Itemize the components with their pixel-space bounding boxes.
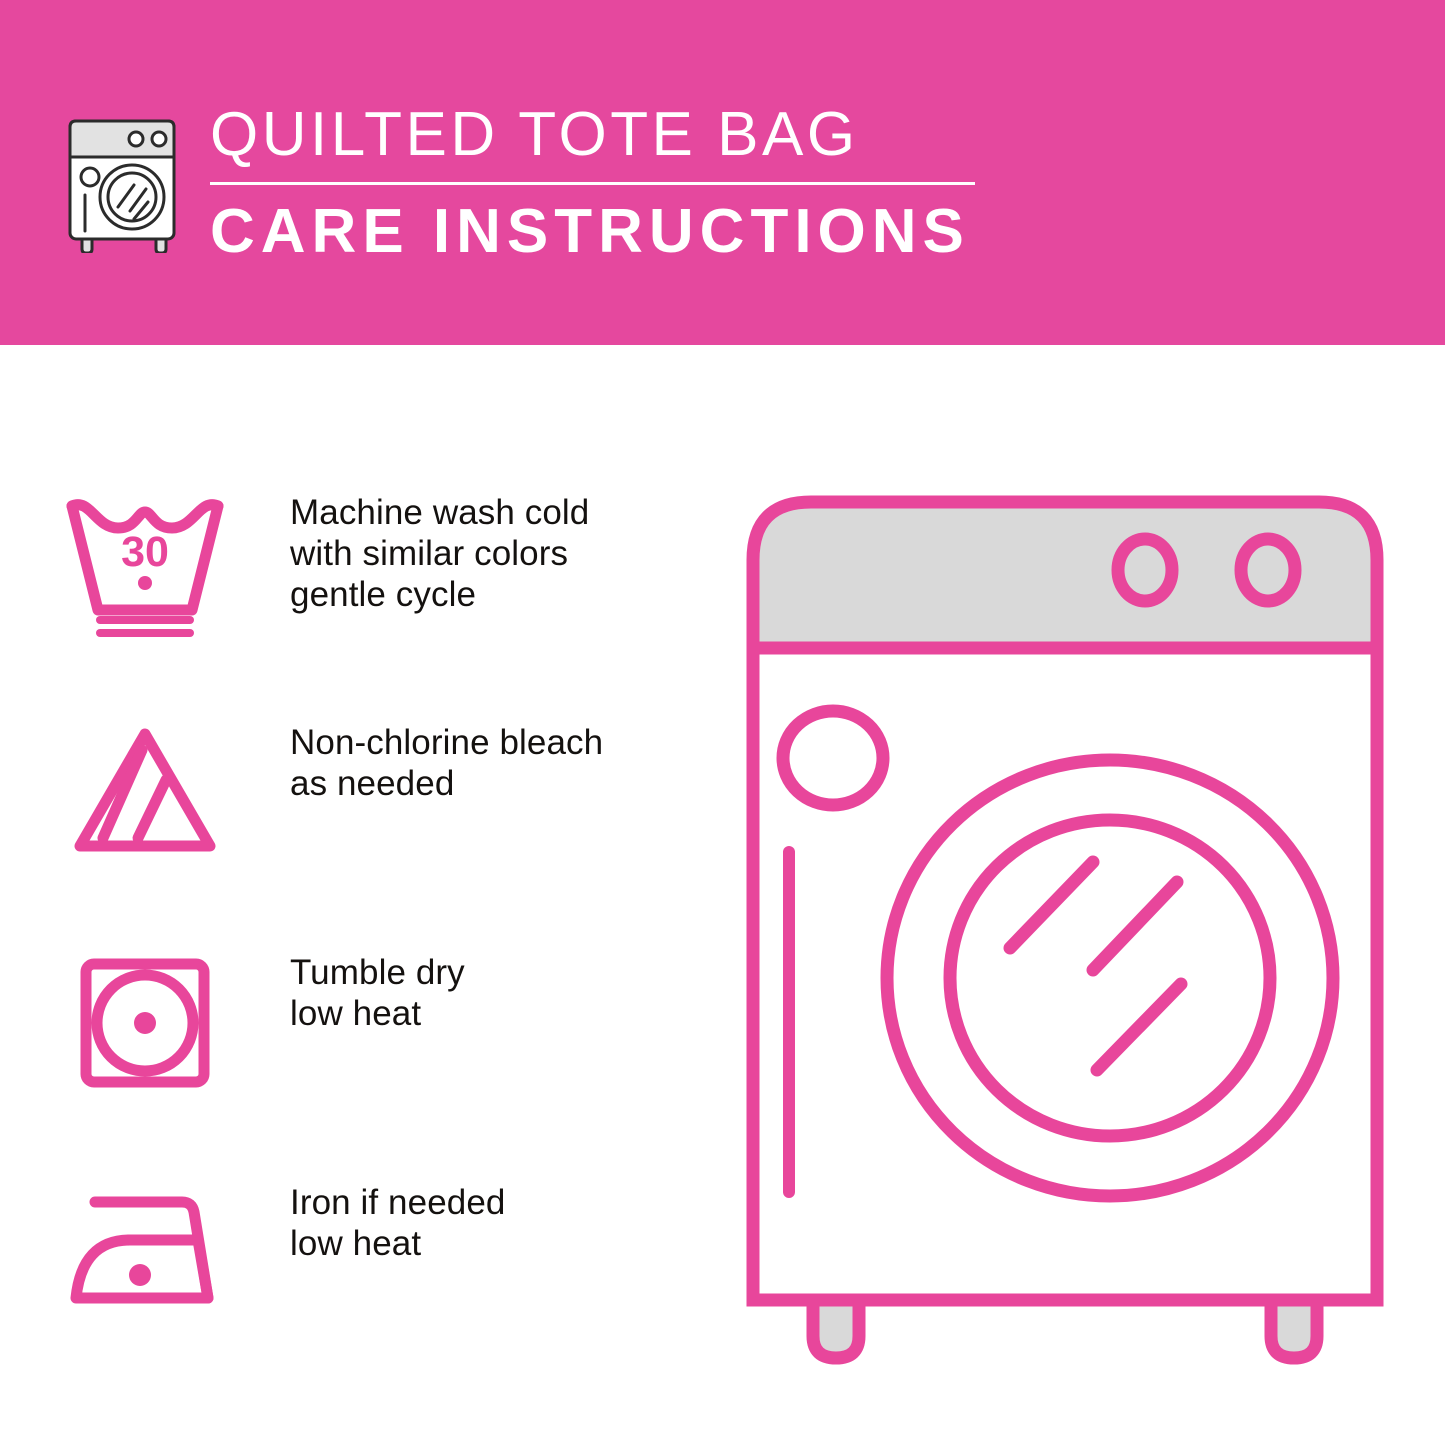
label-line: low heat [290,993,465,1034]
control-panel [753,502,1377,648]
list-item: Non-chlorine bleach as needed [0,700,700,930]
list-item: Tumble dry low heat [0,930,700,1160]
washing-machine-icon [60,103,188,253]
tumble-dry-low-symbol [0,930,290,1098]
iron-low-heat-symbol [0,1160,290,1328]
label-line: low heat [290,1223,505,1264]
machine-wash-30-gentle-symbol: 30 [0,470,290,638]
leg-left [813,1300,859,1358]
page-subtitle: CARE INSTRUCTIONS [210,199,1000,265]
door-inner-ring [950,820,1270,1136]
label-line: Non-chlorine bleach [290,722,603,763]
label-line: as needed [290,763,603,804]
detergent-port [783,711,883,805]
label-line: Machine wash cold [290,492,589,533]
non-chlorine-bleach-symbol [0,700,290,868]
list-item-label: Tumble dry low heat [290,930,465,1034]
label-line: gentle cycle [290,574,589,615]
label-line: Iron if needed [290,1182,505,1223]
wash-temperature-value: 30 [121,528,169,576]
header-text-block: QUILTED TOTE BAG CARE INSTRUCTIONS [210,100,1000,265]
list-item: 30 Machine wash cold with similar colors… [0,470,700,700]
header-banner: QUILTED TOTE BAG CARE INSTRUCTIONS [0,0,1445,345]
label-line: with similar colors [290,533,589,574]
list-item-label: Non-chlorine bleach as needed [290,700,603,804]
list-item: Iron if needed low heat [0,1160,700,1390]
instruction-list: 30 Machine wash cold with similar colors… [0,470,700,1390]
door-swirl-lines [1010,862,1181,1070]
title-divider [210,182,975,185]
page-title: QUILTED TOTE BAG [210,100,1000,170]
front-load-washing-machine-illustration [715,470,1415,1380]
care-instructions-card: QUILTED TOTE BAG CARE INSTRUCTIONS 30 [0,0,1445,1445]
list-item-label: Machine wash cold with similar colors ge… [290,470,589,615]
leg-right [1271,1300,1317,1358]
label-line: Tumble dry [290,952,465,993]
list-item-label: Iron if needed low heat [290,1160,505,1264]
